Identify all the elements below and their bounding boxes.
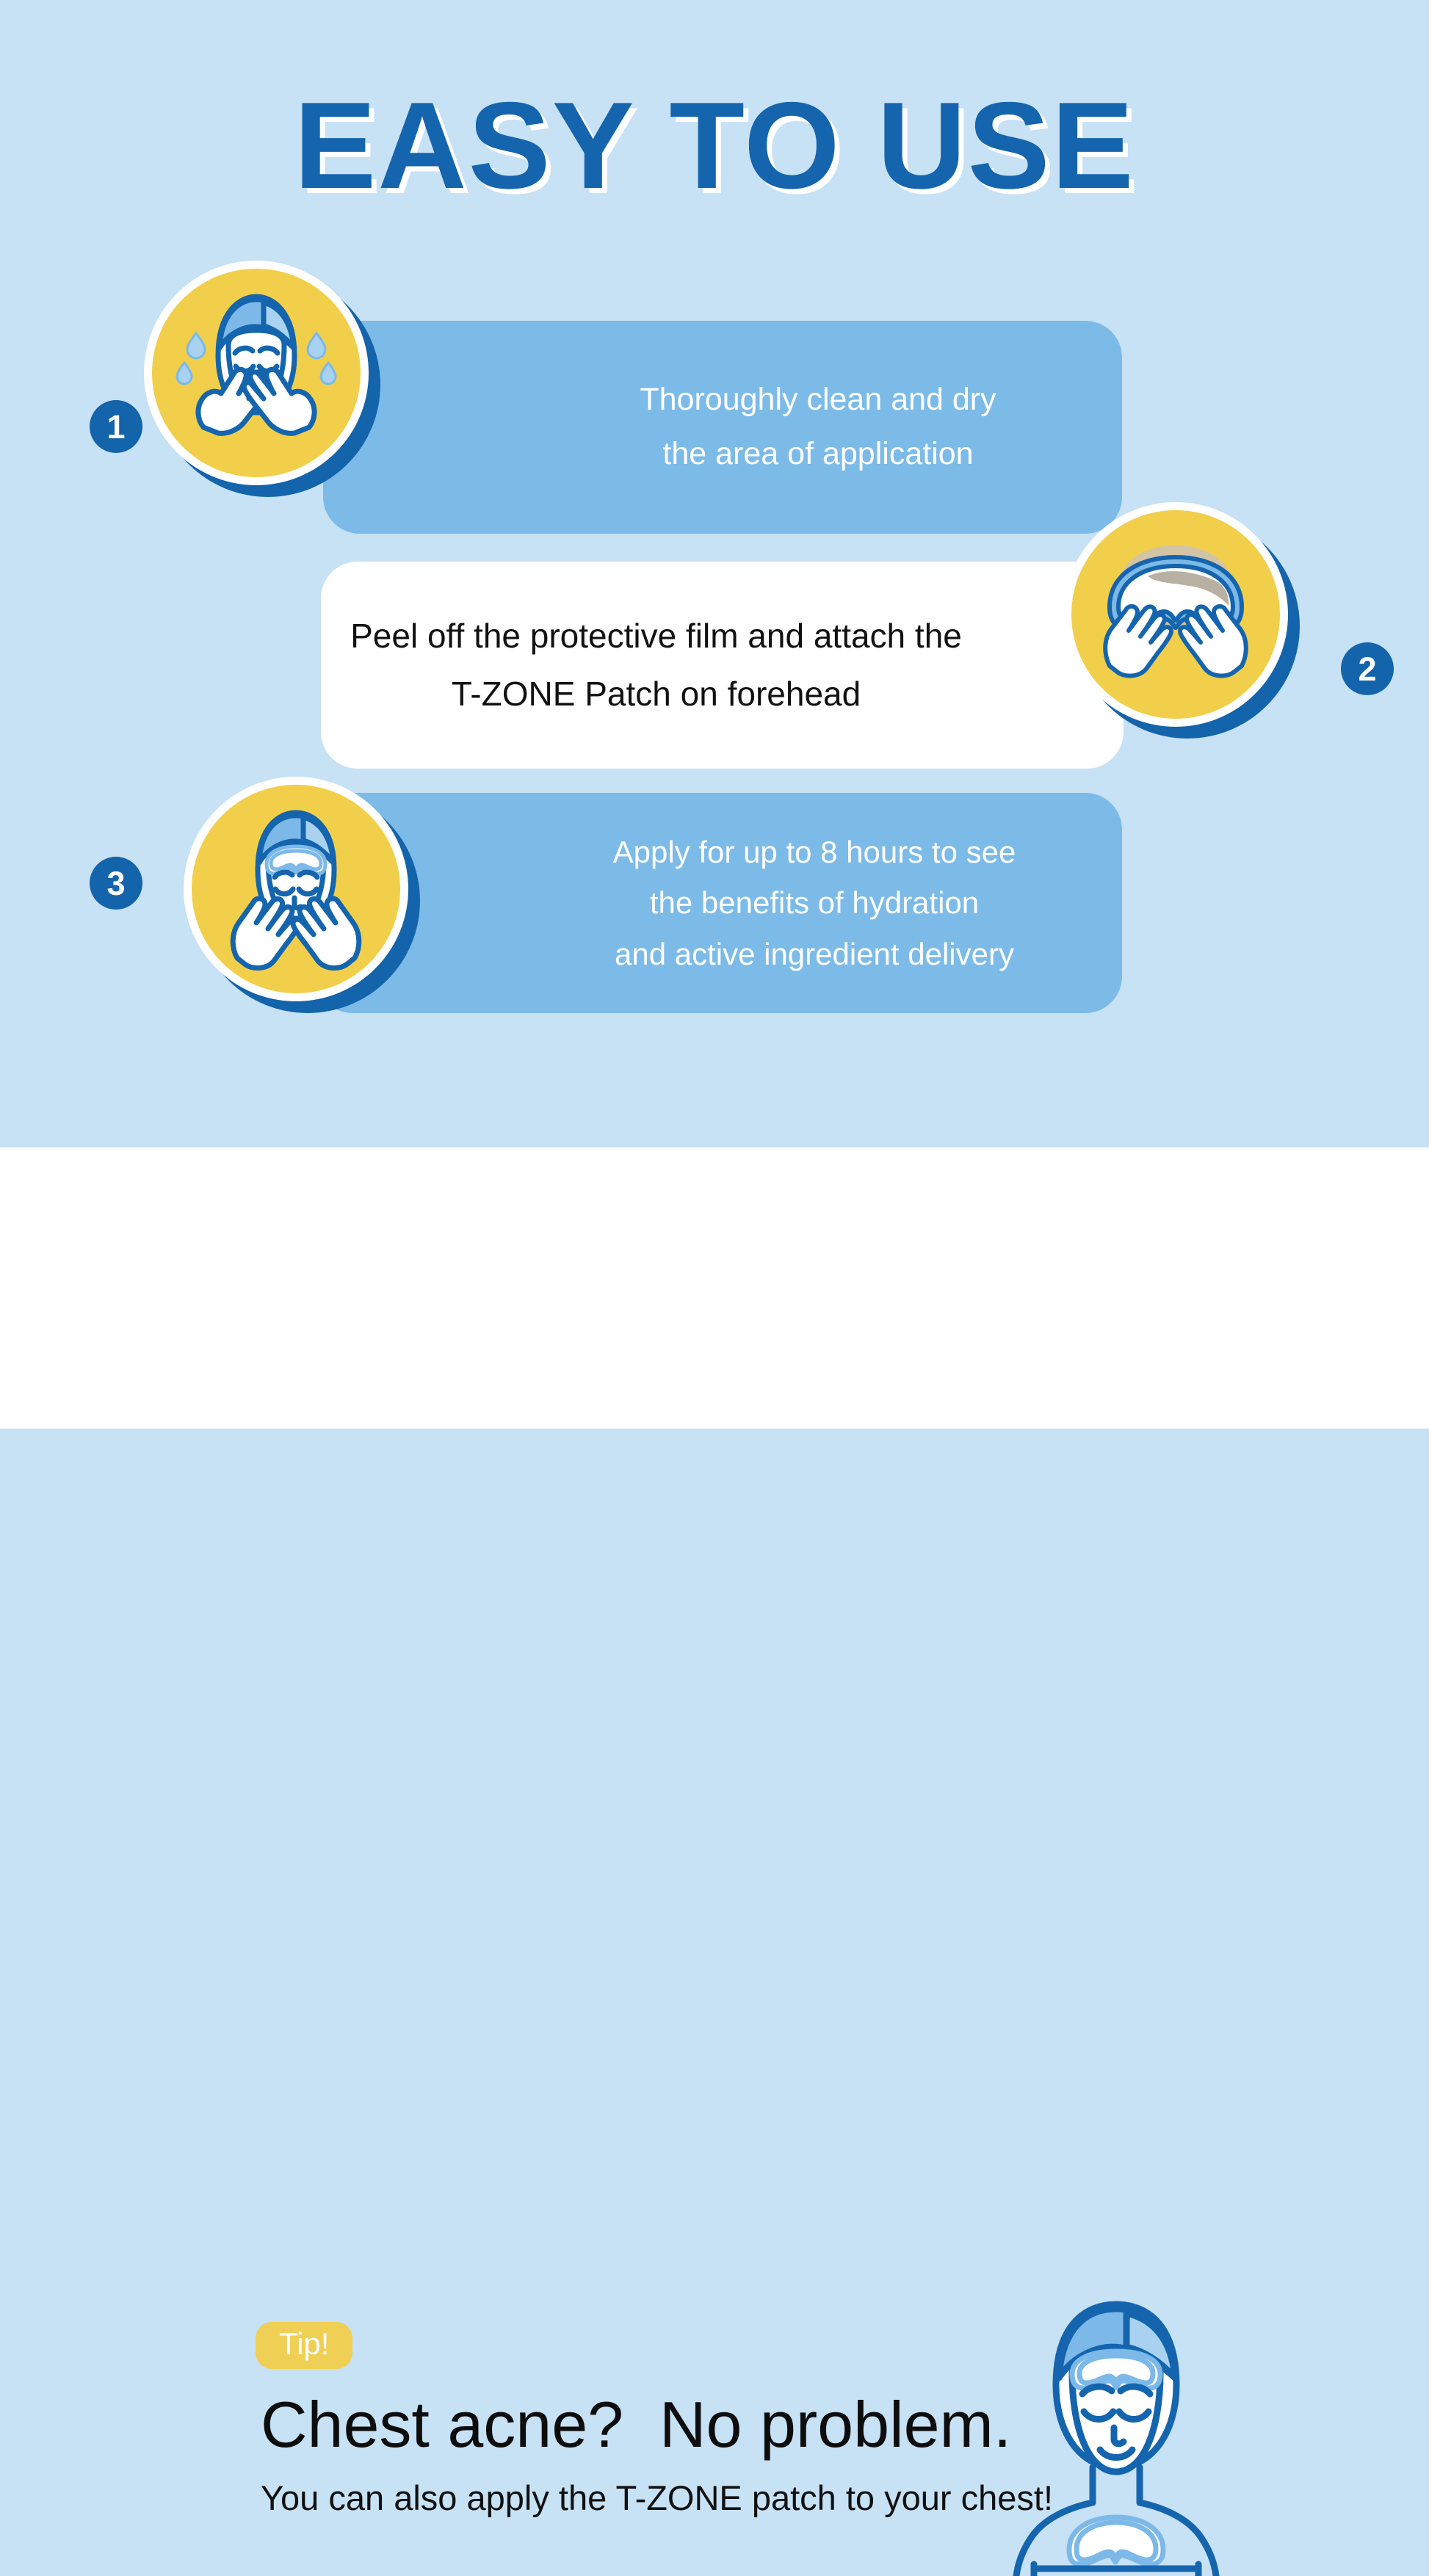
step-3-text: Apply for up to 8 hours to see the benef…: [613, 827, 1016, 979]
step-1-number-badge: 1: [90, 400, 142, 453]
step-2-text-line-1: Peel off the protective film and attach …: [350, 607, 962, 665]
step-2-panel: Peel off the protective film and attach …: [321, 562, 1124, 769]
tip-headline: Chest acne? No problem.: [261, 2390, 1011, 2461]
step-2-number-badge: 2: [1341, 642, 1394, 695]
step-3-icon-circle: [184, 777, 408, 1001]
step-3-number-badge: 3: [90, 857, 142, 910]
page-title-container: EASY TO USE: [0, 81, 1429, 210]
step-1-panel: Thoroughly clean and dry the area of app…: [323, 321, 1122, 534]
infographic-canvas: EASY TO USE Thoroughly clean and dry the…: [0, 0, 1429, 1429]
tip-badge: Tip!: [256, 2322, 352, 2369]
wash-face-icon: [152, 269, 361, 477]
step-3-text-line-1: Apply for up to 8 hours to see: [613, 827, 1016, 877]
step-2-icon-circle: [1063, 502, 1288, 727]
step-3-text-line-2: the benefits of hydration: [613, 877, 1016, 928]
page-title: EASY TO USE: [294, 81, 1135, 210]
step-3-text-line-3: and active ingredient delivery: [613, 929, 1016, 979]
step-1-icon-circle: [144, 261, 369, 485]
step-1-text-line-2: the area of application: [640, 427, 996, 482]
step-1-text-line-1: Thoroughly clean and dry: [640, 373, 996, 427]
step-2-text-line-2: T-ZONE Patch on forehead: [350, 665, 962, 723]
person-with-forehead-and-chest-patch-illustration: [969, 2291, 1278, 2576]
step-2-text: Peel off the protective film and attach …: [350, 607, 962, 723]
tip-section: Tip! Chest acne? No problem. You can als…: [0, 1147, 1429, 1429]
patch-on-forehead-icon: [192, 785, 400, 993]
peel-patch-hands-icon: [1071, 510, 1280, 719]
tip-subtext: You can also apply the T-ZONE patch to y…: [261, 2478, 1053, 2519]
step-1-text: Thoroughly clean and dry the area of app…: [640, 373, 996, 482]
step-3-panel: Apply for up to 8 hours to see the benef…: [316, 793, 1122, 1013]
